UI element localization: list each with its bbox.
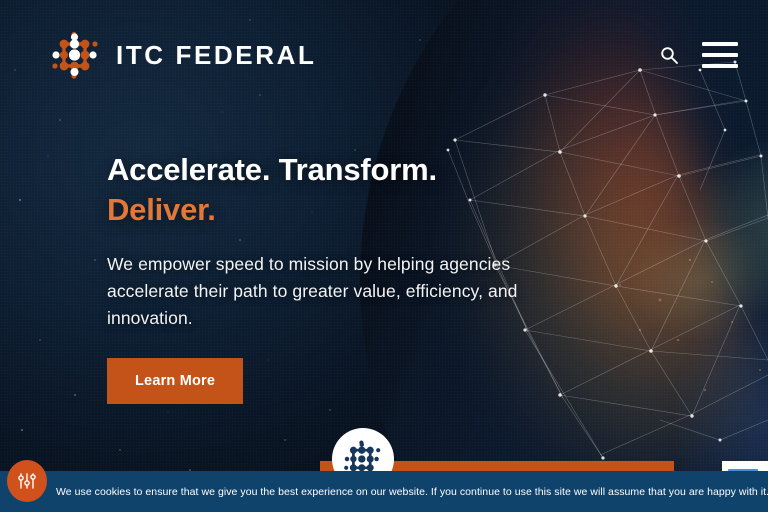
cookie-consent-banner: We use cookies to ensure that we give yo… xyxy=(0,471,768,512)
brand-logo[interactable]: ITC FEDERAL xyxy=(50,30,316,80)
headline-line-1: Accelerate. Transform. xyxy=(107,152,437,187)
learn-more-button[interactable]: Learn More xyxy=(107,358,243,404)
hero-subcopy: We empower speed to mission by helping a… xyxy=(107,251,577,331)
cookie-message: We use cookies to ensure that we give yo… xyxy=(56,486,768,498)
hero-content: Accelerate. Transform. Deliver. We empow… xyxy=(107,150,577,404)
page-title: Accelerate. Transform. Deliver. xyxy=(107,150,577,229)
site-header: ITC FEDERAL xyxy=(0,0,768,110)
headline-line-2: Deliver. xyxy=(107,190,577,230)
search-icon[interactable] xyxy=(658,44,680,66)
cookie-settings-sliders-icon[interactable] xyxy=(7,460,47,502)
brand-name: ITC FEDERAL xyxy=(116,40,316,71)
header-actions xyxy=(658,42,738,68)
itc-dot-grid-logo-icon xyxy=(50,30,102,80)
hamburger-menu-icon[interactable] xyxy=(702,42,738,68)
